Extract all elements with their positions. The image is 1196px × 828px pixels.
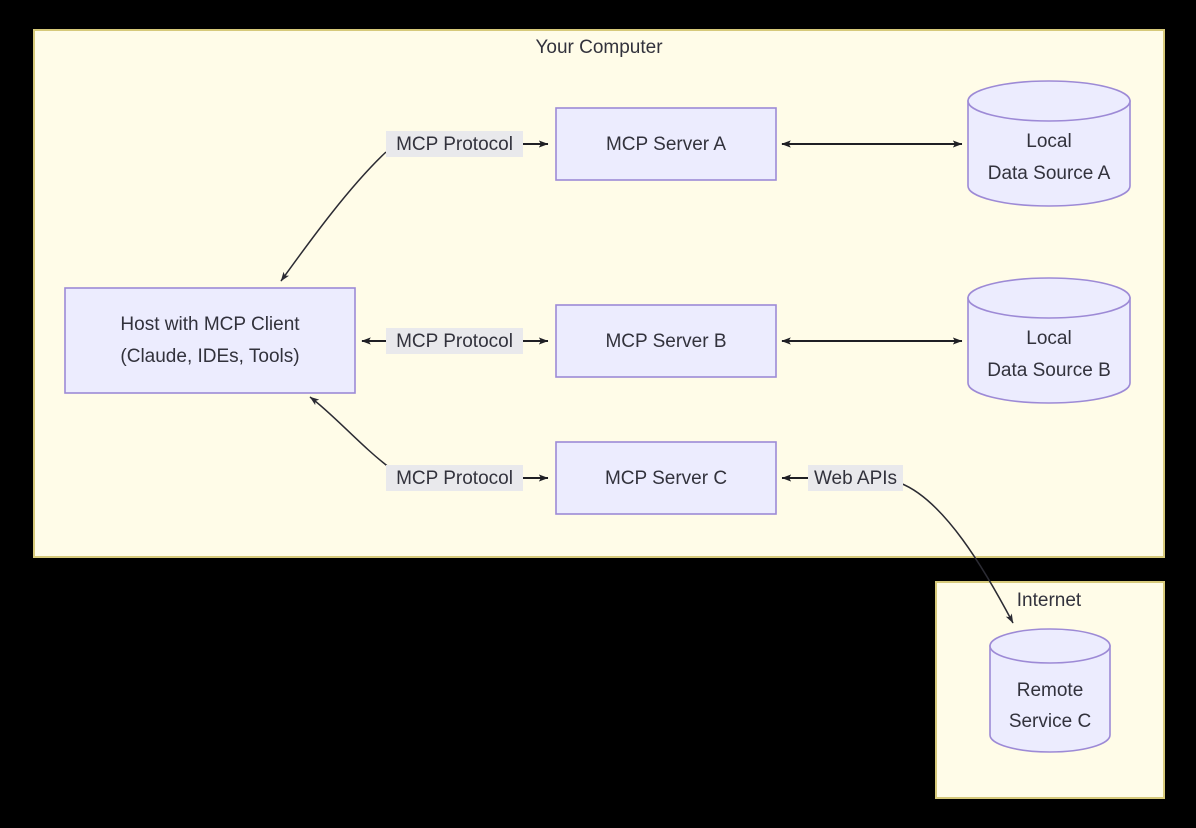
edge-label-host-server-a-text: MCP Protocol [396,134,513,155]
node-server-a-label: MCP Server A [606,134,726,155]
edge-label-host-server-a: MCP Protocol [386,131,523,157]
node-host-label-line1: Host with MCP Client [120,314,300,335]
node-host[interactable]: Host with MCP Client (Claude, IDEs, Tool… [65,288,355,393]
edge-label-host-server-b: MCP Protocol [386,328,523,354]
node-remote-c-label-line1: Remote [1017,680,1084,701]
node-data-a-label-line2: Data Source A [988,163,1111,184]
node-data-a[interactable]: Local Data Source A [968,81,1130,206]
node-data-a-top [968,81,1130,121]
edge-label-host-server-c: MCP Protocol [386,465,523,491]
node-server-c-label: MCP Server C [605,468,727,489]
node-data-b-label-line1: Local [1026,328,1071,349]
node-data-b[interactable]: Local Data Source B [968,278,1130,403]
node-remote-c-label-line2: Service C [1009,711,1091,732]
node-server-a[interactable]: MCP Server A [556,108,776,180]
mcp-architecture-diagram: Your Computer Internet [0,0,1196,828]
internet-title: Internet [1017,590,1082,611]
node-data-b-label-line2: Data Source B [987,360,1111,381]
node-remote-c[interactable]: Remote Service C [990,629,1110,752]
edge-label-host-server-b-text: MCP Protocol [396,331,513,352]
node-server-b[interactable]: MCP Server B [556,305,776,377]
node-server-c[interactable]: MCP Server C [556,442,776,514]
your-computer-title: Your Computer [535,37,663,58]
edge-label-server-c-remote-c-text: Web APIs [814,468,897,489]
node-data-a-label-line1: Local [1026,131,1071,152]
node-server-b-label: MCP Server B [605,331,726,352]
edge-label-server-c-remote-c: Web APIs [808,465,903,491]
diagram-canvas: Your Computer Internet [0,0,1196,828]
edge-label-host-server-c-text: MCP Protocol [396,468,513,489]
node-host-label-line2: (Claude, IDEs, Tools) [120,346,299,367]
node-host-rect[interactable] [65,288,355,393]
node-data-b-top [968,278,1130,318]
node-remote-c-top [990,629,1110,663]
